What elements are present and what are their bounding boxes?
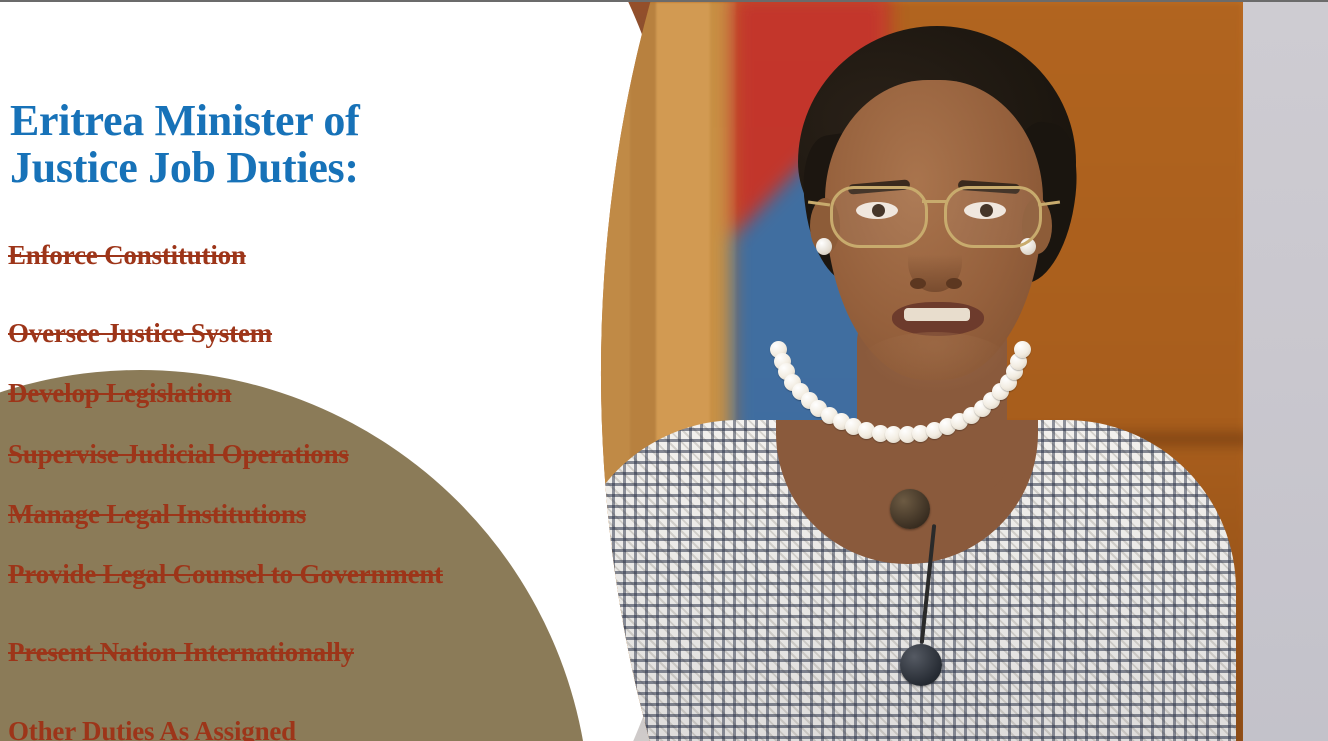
- duty-item: Enforce Constitution: [8, 240, 468, 270]
- pearl-necklace: [766, 324, 1034, 456]
- duty-item: Other Duties As Assigned: [8, 716, 468, 741]
- subject-nostril-left: [910, 278, 926, 289]
- right-edge-strip: [1243, 2, 1328, 741]
- duty-item: Provide Legal Counsel to Government: [8, 559, 468, 589]
- eyeglass-bridge: [922, 200, 946, 203]
- subject-nostril-right: [946, 278, 962, 289]
- duty-item: Present Nation Internationally: [8, 637, 468, 667]
- eyeglass-lens-left: [830, 186, 928, 248]
- page-title: Eritrea Minister of Justice Job Duties:: [10, 98, 450, 191]
- duty-item: Manage Legal Institutions: [8, 499, 468, 529]
- portrait-subject: [560, 2, 1243, 741]
- text-column: Eritrea Minister of Justice Job Duties: …: [0, 2, 470, 741]
- duty-item: Develop Legislation: [8, 378, 468, 408]
- eyeglass-lens-right: [944, 186, 1042, 248]
- pearl-bead: [1014, 341, 1031, 358]
- page-title-line-1: Eritrea Minister of: [10, 98, 450, 145]
- jacket-button-bottom: [900, 644, 942, 686]
- subject-teeth: [904, 308, 970, 321]
- duty-item: Supervise Judicial Operations: [8, 439, 468, 469]
- page-title-line-2: Justice Job Duties:: [10, 145, 450, 192]
- photo-canvas: [560, 2, 1243, 741]
- portrait-photo: [560, 2, 1243, 741]
- duty-item: Oversee Justice System: [8, 318, 468, 348]
- duties-list: Enforce ConstitutionOversee Justice Syst…: [8, 240, 468, 741]
- eyeglasses-icon: [828, 186, 1040, 248]
- slide-canvas: Eritrea Minister of Justice Job Duties: …: [0, 0, 1328, 741]
- jacket-button-top: [890, 489, 930, 529]
